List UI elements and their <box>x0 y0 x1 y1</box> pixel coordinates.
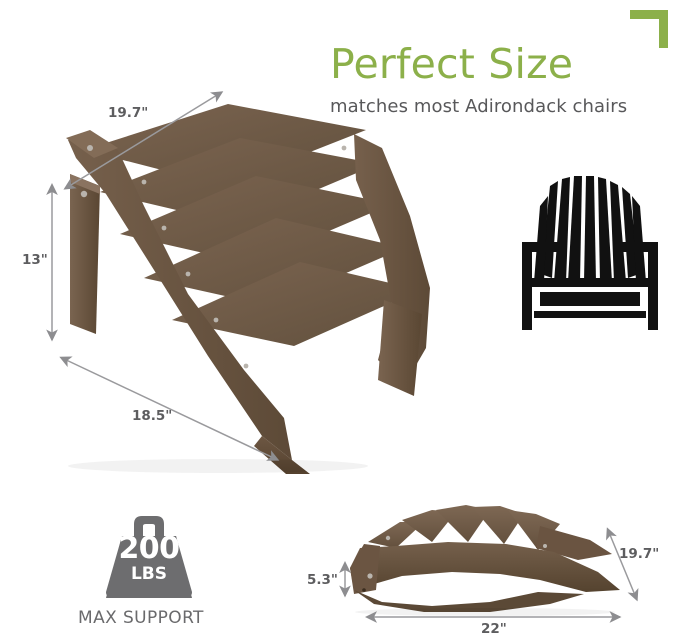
corner-bracket-vertical-bar <box>659 10 668 48</box>
max-support-unit: LBS <box>112 566 186 583</box>
dimension-label-folded-height: 5.3" <box>307 572 338 588</box>
infographic-canvas: Perfect Size matches most Adirondack cha… <box>0 0 679 641</box>
adirondack-chair-silhouette-icon <box>520 170 660 335</box>
ottoman-folded-illustration <box>340 498 630 616</box>
page-title: Perfect Size <box>330 40 660 88</box>
dimension-label-folded-length: 22" <box>481 621 507 637</box>
dimension-label-folded-width: 19.7" <box>619 546 659 562</box>
max-support-value: 200 <box>112 534 186 564</box>
ottoman-open-illustration <box>48 88 448 478</box>
dimension-label-main-depth: 19.7" <box>108 105 148 121</box>
max-support-badge: 200 LBS MAX SUPPORT <box>78 512 283 634</box>
dimension-label-main-height: 13" <box>22 252 48 268</box>
max-support-caption: MAX SUPPORT <box>78 608 278 628</box>
dimension-label-main-length: 18.5" <box>132 408 172 424</box>
